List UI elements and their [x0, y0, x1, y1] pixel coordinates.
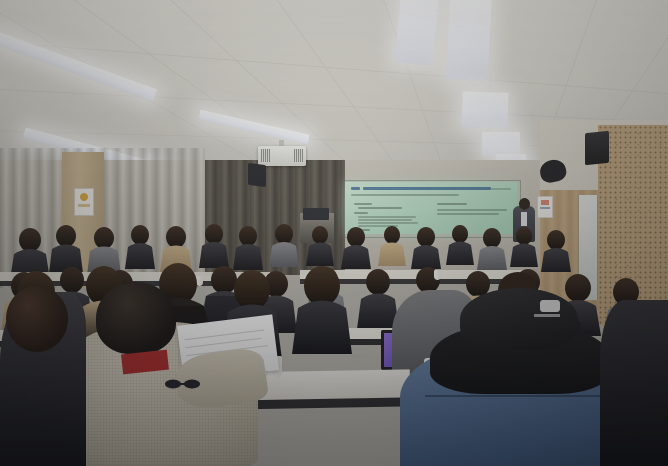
sunglasses: [164, 378, 202, 390]
attendee-dark-coat-right: [600, 300, 668, 466]
cap-logo-icon: [540, 300, 560, 312]
ceiling-light-fixture: [461, 91, 508, 129]
seminar-room-photo: SHIP: [0, 0, 668, 466]
attendee-oatmeal-sweater-head: [96, 282, 176, 354]
ceiling-light-fixture: [395, 0, 440, 66]
ceiling-light-fixture: [482, 132, 520, 156]
projector-icon: [258, 146, 306, 166]
black-baseball-cap: [460, 288, 578, 350]
speaker-icon: [585, 131, 609, 166]
attendee-dark-coat-left-head: [6, 286, 68, 352]
ceiling-light-fixture: [446, 0, 492, 81]
